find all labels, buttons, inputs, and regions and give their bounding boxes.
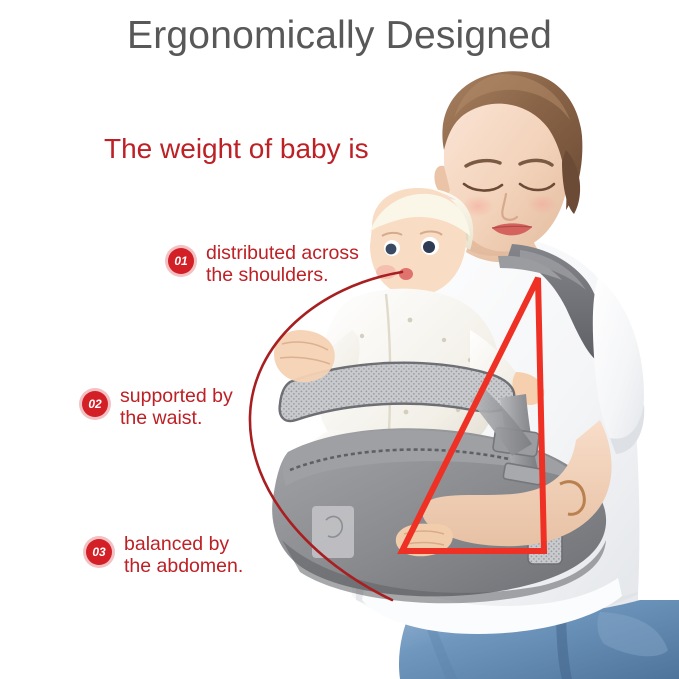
callout-text-01: distributed across the shoulders.	[206, 243, 359, 287]
callout-03: 03 balanced by the abdomen.	[86, 534, 243, 578]
page-title: Ergonomically Designed	[0, 14, 679, 58]
callout-text-03: balanced by the abdomen.	[124, 534, 243, 578]
callout-02: 02 supported by the waist.	[82, 386, 233, 430]
cheek-right	[527, 194, 557, 214]
product-infographic: Ergonomically Designed The weight of bab…	[0, 0, 679, 679]
hip-seat-label	[312, 506, 354, 558]
page-subtitle: The weight of baby is	[104, 133, 369, 165]
baby-eye-right	[423, 241, 435, 253]
callout-text-02: supported by the waist.	[120, 386, 233, 430]
baby-eye-left	[386, 244, 397, 255]
callout-badge-02: 02	[82, 391, 108, 417]
callout-badge-01: 01	[168, 248, 194, 274]
callout-01: 01 distributed across the shoulders.	[168, 243, 359, 287]
baby-cheek	[376, 265, 396, 279]
callout-badge-03: 03	[86, 539, 112, 565]
baby-mouth	[399, 268, 413, 280]
